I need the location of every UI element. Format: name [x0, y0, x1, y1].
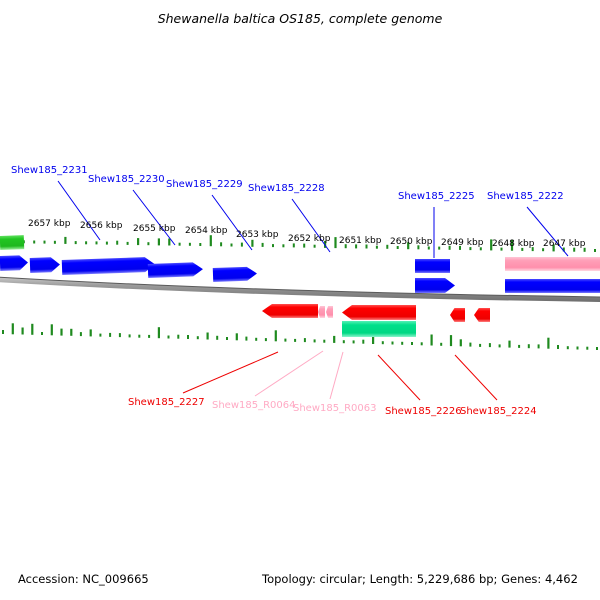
sequence-tick	[210, 235, 212, 246]
sequence-tick	[70, 329, 72, 336]
label-leader-line	[183, 352, 278, 393]
gene-box-f6[interactable]	[415, 259, 450, 273]
sequence-tick	[245, 337, 247, 341]
sequence-tick	[138, 335, 140, 338]
sequence-tick	[109, 333, 111, 337]
axis-tick-label: 2655 kbp	[133, 224, 175, 234]
sequence-tick	[33, 241, 35, 244]
gene-arrow-f2[interactable]	[30, 257, 61, 273]
axis-tick-label: 2648 kbp	[492, 239, 534, 249]
gene-label[interactable]: Shew185_2222	[487, 191, 564, 202]
sequence-tick	[199, 243, 201, 246]
sequence-tick	[44, 241, 46, 244]
sequence-tick	[499, 344, 501, 347]
sequence-tick	[386, 245, 388, 249]
genome-map-canvas	[0, 0, 600, 600]
sequence-tick	[284, 339, 286, 342]
sequence-tick	[314, 245, 316, 248]
gene-arrow-r6[interactable]	[450, 308, 465, 322]
sequence-tick	[557, 345, 559, 349]
sequence-tick	[518, 345, 520, 348]
sequence-tick	[586, 347, 588, 350]
label-leader-lines-bottom	[183, 351, 497, 400]
gene-label[interactable]: Shew185_R0063	[293, 403, 377, 414]
sequence-tick	[323, 340, 325, 343]
sequence-tick	[401, 342, 403, 345]
sequence-tick	[106, 242, 108, 245]
rna-arrow-r3[interactable]	[326, 306, 333, 318]
sequence-tick	[22, 328, 24, 335]
sequence-tick	[333, 336, 335, 343]
sequence-tick	[197, 336, 199, 339]
sequence-tick	[158, 238, 160, 245]
axis-tick-label: 2657 kbp	[28, 219, 70, 229]
sequence-tick	[265, 338, 267, 341]
gene-label[interactable]: Shew185_2225	[398, 191, 475, 202]
label-leader-line	[58, 181, 100, 240]
sequence-tick	[220, 242, 222, 246]
sequence-tick	[158, 327, 160, 338]
sequence-tick	[64, 237, 66, 244]
accession-text: Accession: NC_009665	[18, 572, 149, 586]
rna-arrow-r2[interactable]	[318, 306, 325, 318]
sequence-tick	[577, 347, 579, 350]
sequence-tick	[41, 332, 43, 335]
gene-arrow-f5[interactable]	[213, 266, 257, 282]
genome-stats-text: Topology: circular; Length: 5,229,686 bp…	[262, 572, 578, 586]
sequence-tick	[119, 333, 121, 337]
sequence-tick	[392, 342, 394, 345]
sequence-tick	[567, 346, 569, 349]
sequence-tick	[31, 324, 33, 335]
sequence-tick	[255, 338, 257, 341]
sequence-tick	[116, 241, 118, 245]
label-leader-line	[212, 195, 252, 250]
label-leader-line	[378, 355, 420, 400]
sequence-tick	[489, 343, 491, 347]
sequence-tick	[528, 344, 530, 348]
sequence-tick	[469, 343, 471, 347]
gene-arrow-f3[interactable]	[62, 257, 155, 275]
gene-label[interactable]: Shew185_2227	[128, 397, 205, 408]
sequence-tick	[294, 339, 296, 342]
sequence-tick	[411, 342, 413, 345]
axis-tick-label: 2654 kbp	[185, 226, 227, 236]
axis-tick-label: 2656 kbp	[80, 221, 122, 231]
sequence-tick	[54, 241, 56, 244]
sequence-tick	[275, 330, 277, 341]
axis-tick-label: 2652 kbp	[288, 234, 330, 244]
sequence-tick	[207, 333, 209, 340]
sequence-tick	[596, 347, 598, 350]
sequence-tick	[450, 335, 452, 346]
sequence-tick	[187, 335, 189, 339]
sequence-tick	[85, 241, 87, 244]
sequence-tick	[376, 246, 378, 249]
sequence-tick	[12, 323, 14, 334]
sequence-tick	[421, 342, 423, 345]
sequence-tick	[440, 343, 442, 346]
gene-label[interactable]: Shew185_2229	[166, 179, 243, 190]
sequence-tick	[334, 237, 336, 248]
sequence-tick	[272, 244, 274, 247]
sequence-tick	[594, 249, 596, 252]
sequence-tick	[431, 335, 433, 346]
sequence-tick	[177, 335, 179, 339]
sequence-tick	[226, 337, 228, 340]
label-leader-line	[455, 355, 497, 400]
gene-arrow-f4[interactable]	[148, 262, 203, 278]
sequence-tick	[251, 240, 253, 247]
gene-label[interactable]: Shew185_2224	[460, 406, 537, 417]
gene-arrow-f7[interactable]	[415, 278, 455, 293]
sequence-tick	[127, 242, 129, 245]
sequence-tick	[241, 243, 243, 247]
gene-label[interactable]: Shew185_2228	[248, 183, 325, 194]
sequence-tick	[479, 344, 481, 347]
gene-arrow-r4[interactable]	[342, 305, 416, 320]
axis-tick-label: 2653 kbp	[236, 230, 278, 240]
gene-label[interactable]: Shew185_2226	[385, 406, 462, 417]
gene-label[interactable]: Shew185_2231	[11, 165, 88, 176]
sequence-tick	[343, 340, 345, 343]
sequence-tick	[293, 243, 295, 247]
sequence-tick	[262, 243, 264, 247]
sequence-tick	[382, 341, 384, 344]
gene-arrow-r1[interactable]	[262, 304, 318, 318]
sequence-tick	[353, 340, 355, 343]
sequence-tick	[362, 340, 364, 344]
label-leader-line	[292, 199, 330, 252]
sequence-tick	[460, 339, 462, 346]
sequence-tick	[508, 341, 510, 348]
sequence-tick	[216, 336, 218, 340]
sequence-tick	[372, 337, 374, 344]
sequence-tick	[179, 243, 181, 246]
gene-arrow-r7[interactable]	[474, 308, 490, 322]
sequence-tick	[148, 335, 150, 338]
gene-box-f9[interactable]	[505, 279, 600, 293]
sequence-tick	[438, 247, 440, 250]
sequence-tick	[168, 336, 170, 339]
axis-tick-label: 2647 kbp	[543, 239, 585, 249]
sequence-tick	[547, 338, 549, 349]
axis-tick-label: 2649 kbp	[441, 238, 483, 248]
gene-label[interactable]: Shew185_R0064	[212, 400, 296, 411]
gene-arrow-f1[interactable]	[0, 255, 28, 271]
sequence-tick	[129, 334, 131, 337]
genome-viewer: Shewanella baltica OS185, complete genom…	[0, 0, 600, 600]
sequence-tick	[147, 242, 149, 245]
sequence-tick	[75, 241, 77, 244]
sequence-tick	[168, 239, 170, 246]
sequence-tick	[304, 338, 306, 342]
rna-box-r5[interactable]	[342, 321, 416, 337]
sequence-tick	[303, 244, 305, 248]
sequence-tick	[80, 332, 82, 336]
sequence-tick	[189, 243, 191, 246]
sequence-tick	[2, 330, 4, 334]
reverse-strand-features	[262, 304, 490, 337]
sequence-tick	[137, 238, 139, 245]
sequence-tick	[96, 241, 98, 244]
sequence-tick	[236, 333, 238, 340]
sequence-tick	[314, 339, 316, 342]
sequence-tick	[282, 244, 284, 247]
sequence-tick	[538, 344, 540, 348]
axis-tick-label: 2651 kbp	[339, 236, 381, 246]
sequence-tick-row-bottom	[2, 323, 598, 350]
axis-tick-label: 2650 kbp	[390, 237, 432, 247]
label-leader-line	[330, 352, 343, 399]
sequence-tick	[90, 329, 92, 336]
green-box-f10[interactable]	[0, 235, 24, 250]
label-leader-line	[133, 190, 175, 245]
sequence-tick	[60, 329, 62, 336]
rna-box-f8[interactable]	[505, 257, 600, 271]
sequence-tick	[99, 334, 101, 337]
sequence-tick	[51, 324, 53, 335]
sequence-tick	[231, 244, 233, 247]
gene-label[interactable]: Shew185_2230	[88, 174, 165, 185]
